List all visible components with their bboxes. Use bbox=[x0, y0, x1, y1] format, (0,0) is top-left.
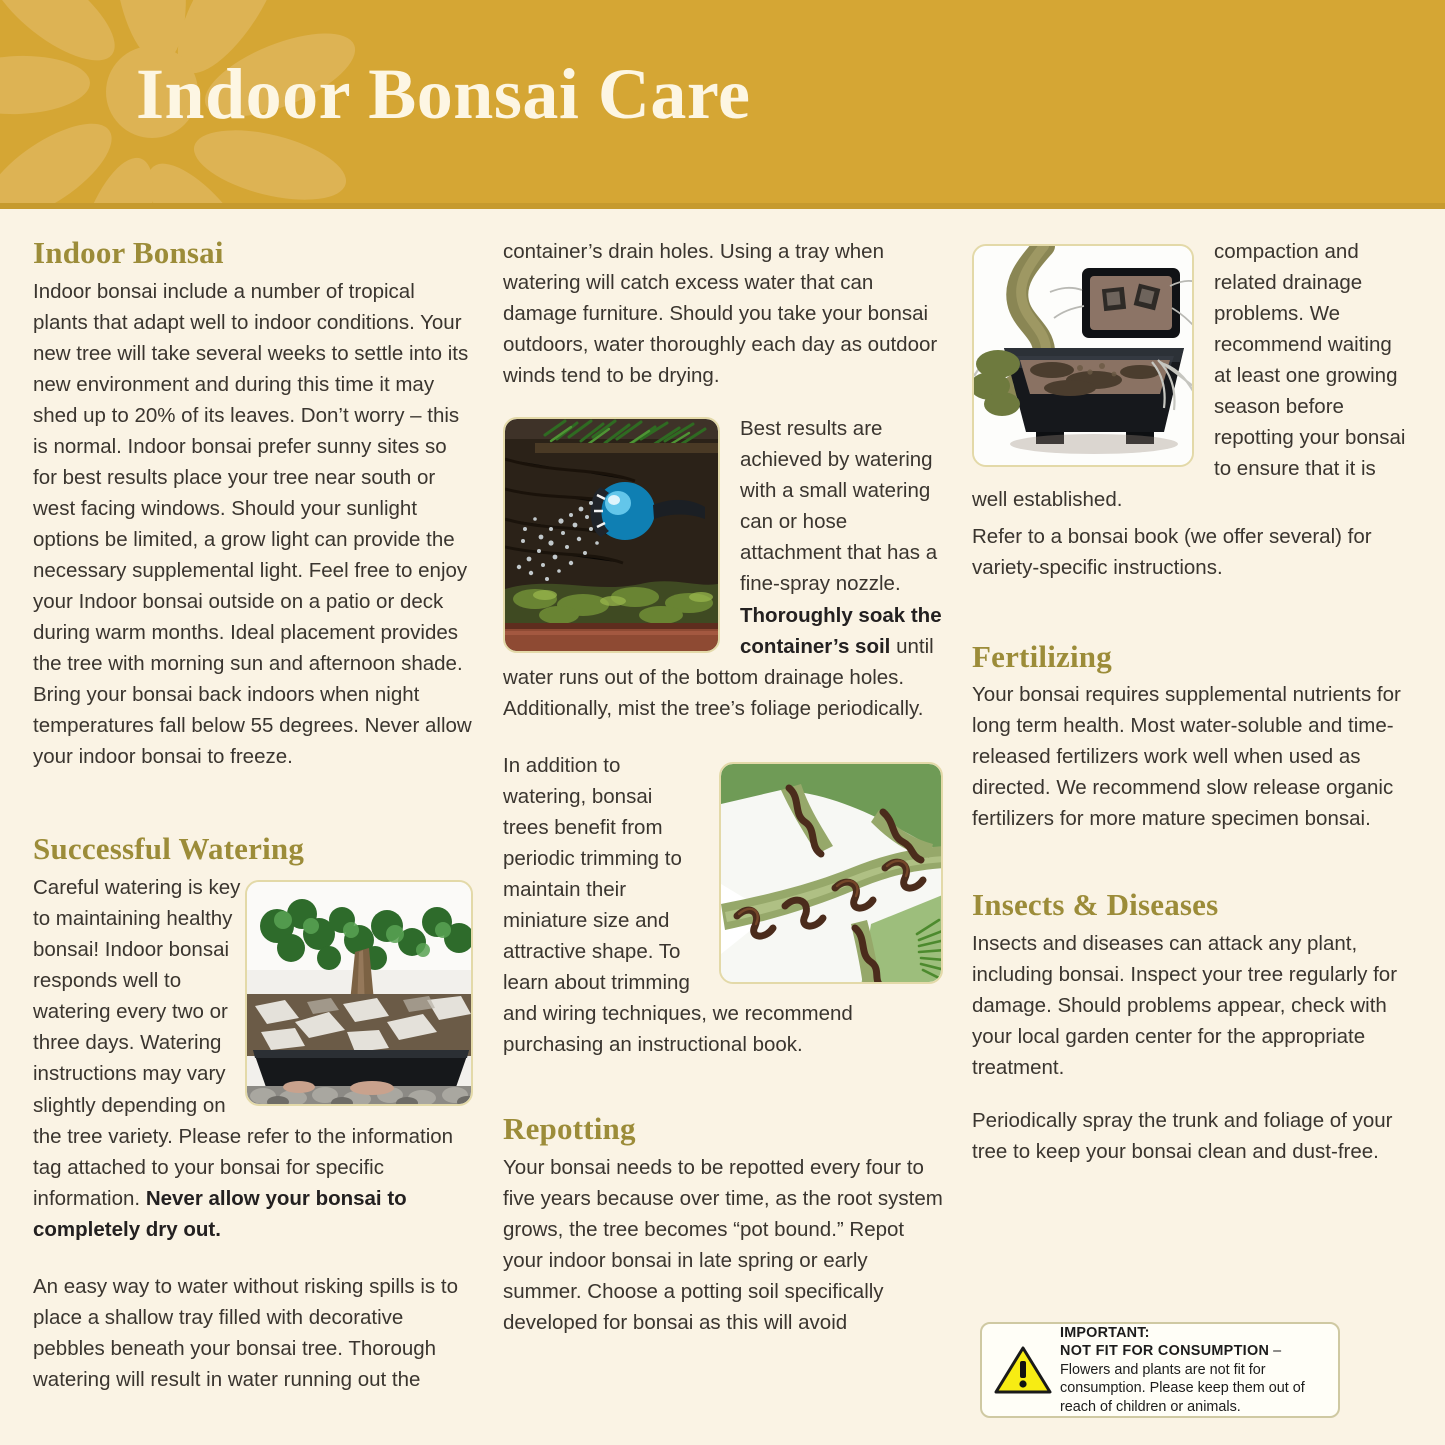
wired-branch-image bbox=[721, 764, 941, 982]
warning-triangle-icon bbox=[994, 1344, 1052, 1396]
photo-wired-branch bbox=[719, 762, 943, 984]
page-title: Indoor Bonsai Care bbox=[136, 58, 750, 130]
column-2: container’s drain holes. Using a tray wh… bbox=[503, 236, 943, 1338]
compaction-text-with-photo: compaction and related drainage problems… bbox=[972, 236, 1412, 515]
trimming-text-with-photo: In addition to watering, bonsai trees be… bbox=[503, 750, 943, 1060]
column-3: compaction and related drainage problems… bbox=[972, 236, 1412, 1168]
page-header: Indoor Bonsai Care bbox=[0, 0, 1445, 209]
photo-watering-nozzle bbox=[503, 417, 720, 653]
paragraph-fertilizing: Your bonsai requires supplemental nutrie… bbox=[972, 679, 1412, 834]
warning-bold-text: NOT FIT FOR CONSUMPTION bbox=[1060, 1343, 1269, 1359]
paragraph-insects-1: Insects and diseases can attack any plan… bbox=[972, 928, 1412, 1083]
watering-nozzle-image bbox=[505, 419, 718, 651]
paragraph-watering-2: An easy way to water without risking spi… bbox=[33, 1271, 473, 1395]
best-results-normal-1: Best results are achieved by watering wi… bbox=[740, 417, 937, 595]
paragraph-repotting: Your bonsai needs to be repotted every f… bbox=[503, 1152, 943, 1338]
heading-repotting: Repotting bbox=[503, 1112, 943, 1147]
heading-insects-diseases: Insects & Diseases bbox=[972, 888, 1412, 923]
heading-indoor-bonsai: Indoor Bonsai bbox=[33, 236, 473, 271]
heading-successful-watering: Successful Watering bbox=[33, 832, 473, 867]
repotting-pot-image bbox=[974, 246, 1192, 465]
heading-fertilizing: Fertilizing bbox=[972, 640, 1412, 675]
warning-text: IMPORTANT: NOT FIT FOR CONSUMPTION – Flo… bbox=[1060, 1324, 1328, 1416]
warning-line-1: IMPORTANT: bbox=[1060, 1324, 1328, 1342]
paragraph-indoor-bonsai: Indoor bonsai include a number of tropic… bbox=[33, 276, 473, 773]
watering-text-with-photo: Careful watering is key to maintaining h… bbox=[33, 872, 473, 1245]
jade-bonsai-image bbox=[247, 882, 471, 1104]
paragraph-refer-book: Refer to a bonsai book (we offer several… bbox=[972, 521, 1412, 583]
important-warning-box: IMPORTANT: NOT FIT FOR CONSUMPTION – Flo… bbox=[980, 1322, 1340, 1418]
best-results-text-with-photo: Best results are achieved by watering wi… bbox=[503, 413, 943, 723]
column-1: Indoor Bonsai Indoor bonsai include a nu… bbox=[33, 236, 473, 1395]
warning-line-2: NOT FIT FOR CONSUMPTION – Flowers and pl… bbox=[1060, 1342, 1328, 1416]
bonsai-care-infosheet: Indoor Bonsai Care Indoor Bonsai Indoor … bbox=[0, 0, 1445, 1445]
paragraph-drain-holes: container’s drain holes. Using a tray wh… bbox=[503, 236, 943, 391]
header-bottom-rule bbox=[0, 203, 1445, 209]
paragraph-insects-2: Periodically spray the trunk and foliage… bbox=[972, 1105, 1412, 1167]
photo-repotting-pot-mesh bbox=[972, 244, 1194, 467]
photo-jade-bonsai-pebble-tray bbox=[245, 880, 473, 1106]
